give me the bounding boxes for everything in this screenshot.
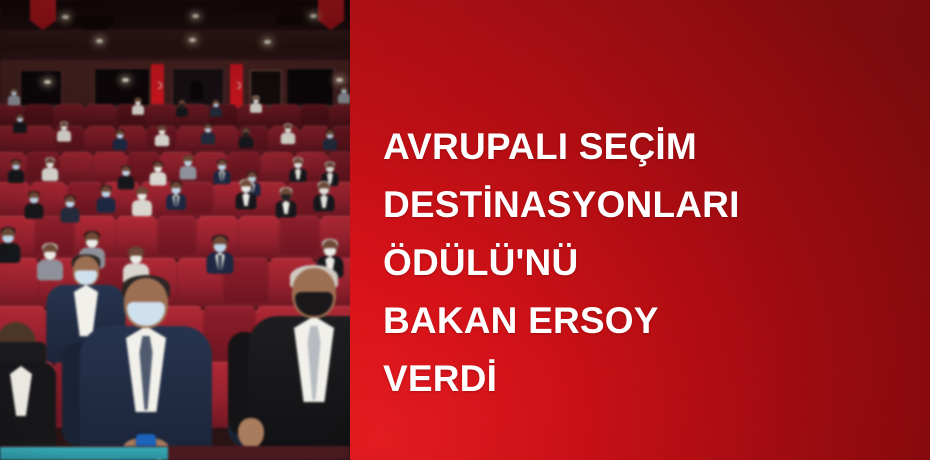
ceiling-spotlight <box>189 38 196 42</box>
headline-line-1: AVRUPALI SEÇİM <box>383 118 916 176</box>
headline-line-3: ÖDÜLÜ'NÜ <box>383 234 916 292</box>
wall-window <box>286 68 334 106</box>
headline-panel[interactable]: AVRUPALI SEÇİM DESTİNASYONLARI ÖDÜLÜ'NÜ … <box>350 0 930 460</box>
photo-scene <box>0 0 350 460</box>
ceiling-spotlight <box>264 40 271 44</box>
news-photo[interactable] <box>0 0 350 460</box>
headline-line-4: BAKAN ERSOY <box>383 292 916 350</box>
headline-line-2: DESTİNASYONLARI <box>383 176 916 234</box>
headline-text-block: AVRUPALI SEÇİM DESTİNASYONLARI ÖDÜLÜ'NÜ … <box>383 118 916 408</box>
news-thumbnail-card[interactable]: AVRUPALI SEÇİM DESTİNASYONLARI ÖDÜLÜ'NÜ … <box>0 0 930 460</box>
ceiling-spotlight <box>310 14 317 18</box>
seat-row <box>0 126 350 150</box>
ceiling-spotlight <box>192 14 199 18</box>
standing-person-silhouette <box>190 80 203 100</box>
window-light <box>336 78 343 82</box>
stage-edge-strip <box>0 447 168 460</box>
seat-row <box>0 104 350 124</box>
window-light <box>44 80 51 84</box>
ceiling-spotlight <box>96 39 103 43</box>
ceiling-vent <box>82 22 108 30</box>
ceiling-spotlight <box>62 15 69 19</box>
headline-line-5: VERDİ <box>383 350 916 408</box>
window-light <box>122 78 129 82</box>
wall-window <box>20 70 62 106</box>
ceiling-soffit <box>0 30 350 46</box>
